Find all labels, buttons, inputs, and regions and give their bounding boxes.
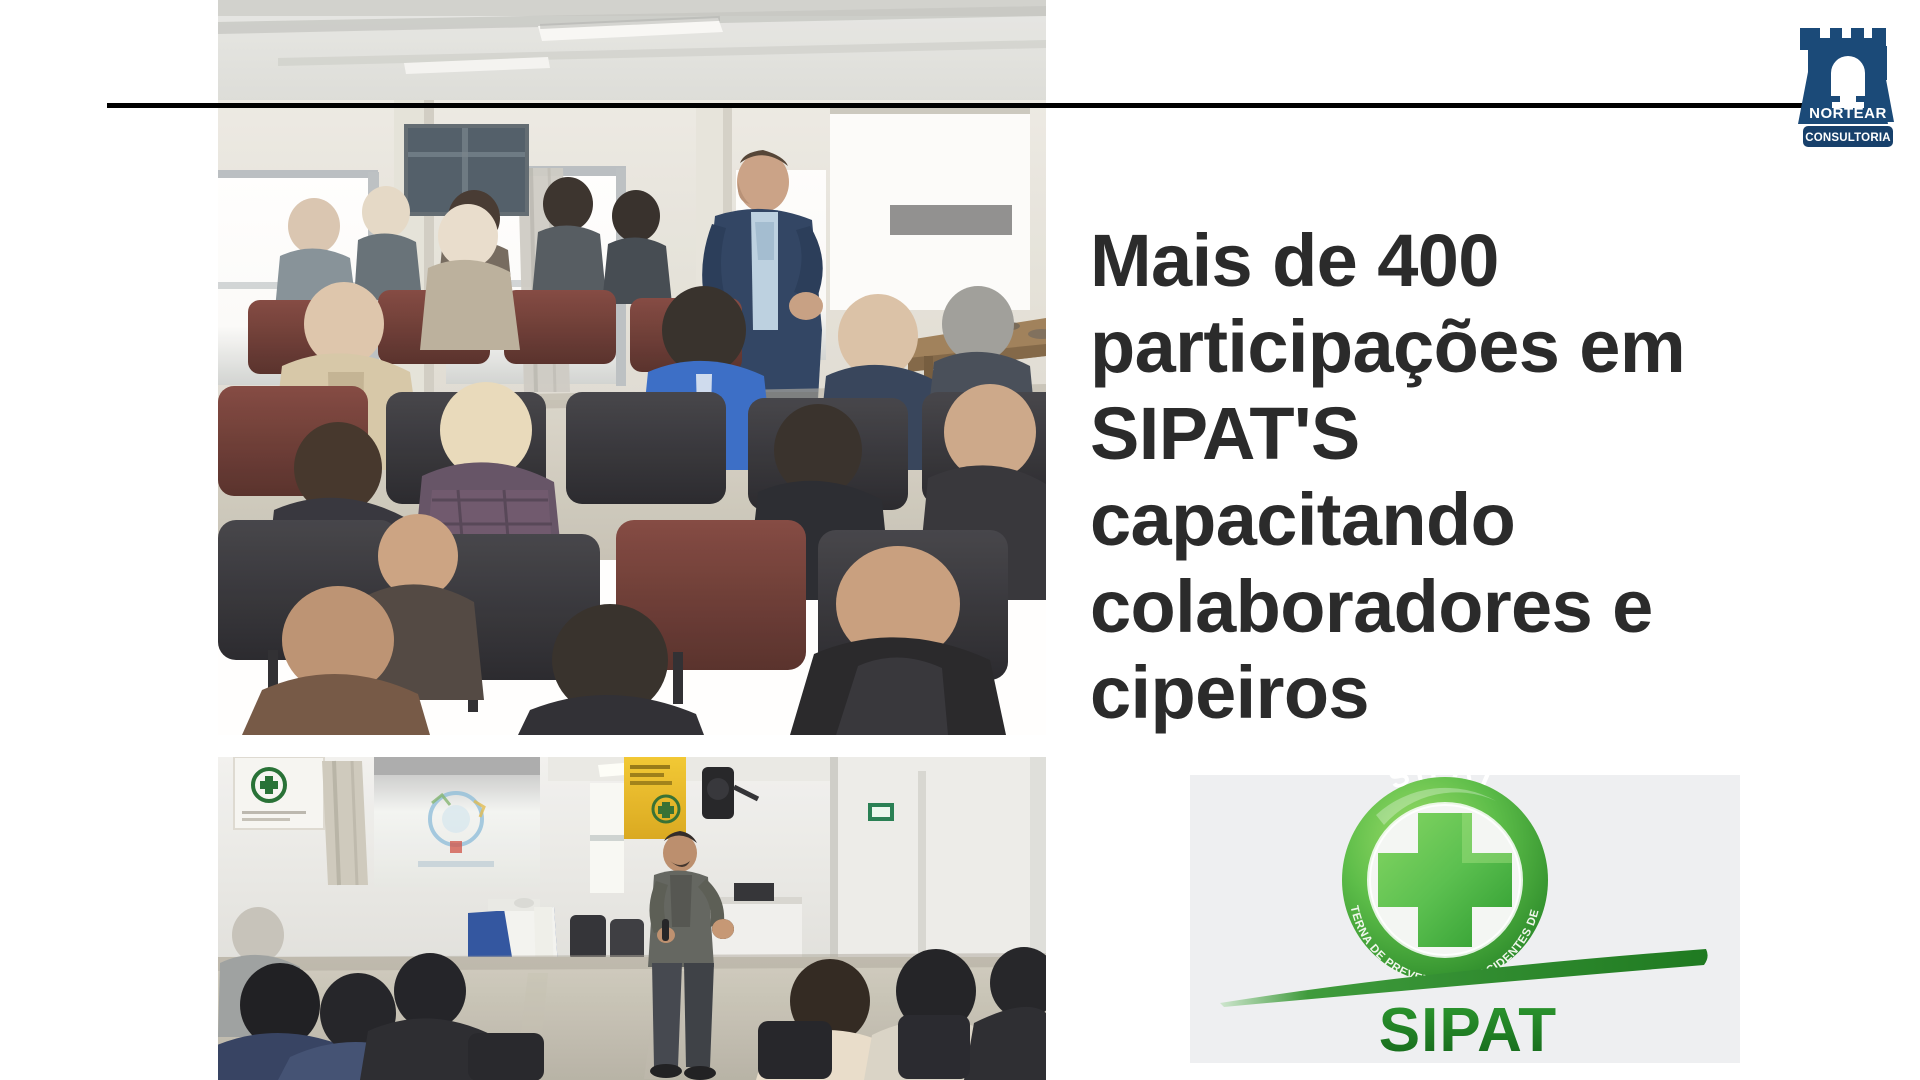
photo-auditorium-bottom bbox=[218, 757, 1046, 1080]
photo-auditorium-top-graphic bbox=[218, 0, 1046, 735]
slide-canvas: NORTEAR CONSULTORIA Mais de 400 particip… bbox=[0, 0, 1920, 1080]
horizontal-divider-rule bbox=[107, 103, 1804, 108]
sipat-logo-card: SIPAT SEMANA INTERNA DE PREVENÇÃO DE ACI… bbox=[1190, 775, 1740, 1063]
sipat-logo-graphic: SIPAT SEMANA INTERNA DE PREVENÇÃO DE ACI… bbox=[1190, 775, 1740, 1063]
nortear-wordmark-text: NORTEAR bbox=[1809, 105, 1887, 122]
photo-auditorium-bottom-graphic bbox=[218, 757, 1046, 1080]
consultoria-badge-text: CONSULTORIA bbox=[1805, 132, 1890, 144]
photo-auditorium-top bbox=[218, 0, 1046, 735]
nortear-logo: NORTEAR CONSULTORIA bbox=[1793, 22, 1903, 150]
sipat-wordmark-text: SIPAT bbox=[1379, 996, 1557, 1063]
page-title: Mais de 400 participações em SIPAT'S cap… bbox=[1090, 218, 1710, 737]
nortear-castle-icon: NORTEAR CONSULTORIA bbox=[1793, 22, 1903, 150]
